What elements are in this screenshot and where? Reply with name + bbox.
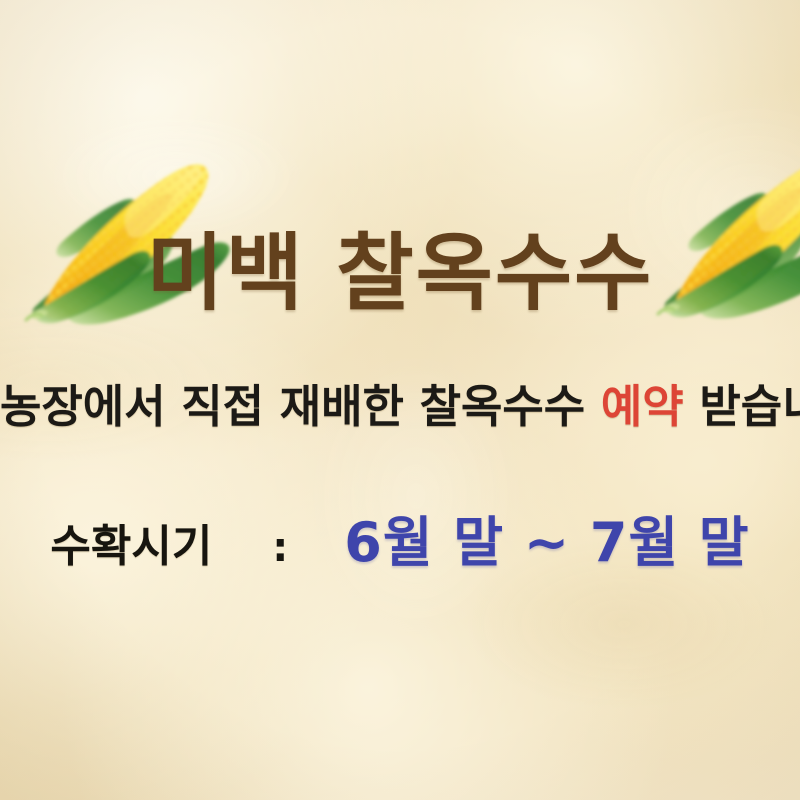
harvest-period-separator: : [272, 525, 288, 571]
poster-subtitle: 농장에서 직접 재배한 찰옥수수 예약 받습니다. [0, 370, 800, 435]
harvest-period-row: 수확시기 : 6월 말 ~ 7월 말 [0, 498, 800, 577]
harvest-period-label: 수확시기 [50, 510, 212, 574]
promotional-poster: 미백 찰옥수수 농장에서 직접 재배한 찰옥수수 예약 받습니다. 수확시기 :… [0, 0, 800, 800]
subtitle-text-before: 농장에서 직접 재배한 찰옥수수 [0, 380, 585, 433]
subtitle-highlight-reservation: 예약 [601, 380, 684, 433]
poster-title: 미백 찰옥수수 [0, 206, 800, 327]
subtitle-text-after: 받습니다. [699, 380, 800, 433]
harvest-period-value: 6월 말 ~ 7월 말 [344, 498, 749, 577]
